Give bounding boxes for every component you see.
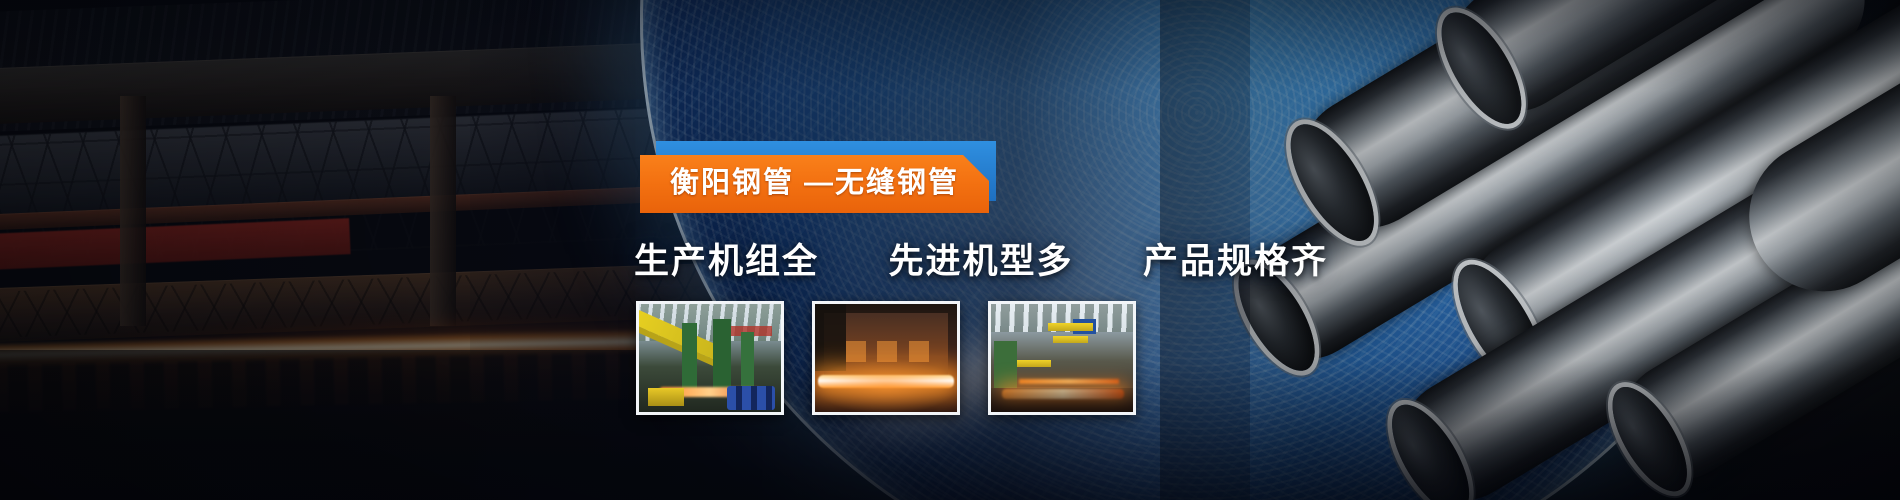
thumb-yellow-platform <box>1014 360 1051 366</box>
thumb-mill-frame <box>682 323 698 394</box>
thumb-hot-pipe-rear <box>1019 379 1118 384</box>
thumb-yellow-platform <box>1053 336 1087 342</box>
thumb-mill-frame <box>741 332 754 392</box>
headline-part-1: 生产机组全 <box>634 242 819 281</box>
thumb-blue-motors <box>727 386 775 410</box>
thumbnail-rolling-mill-line[interactable] <box>636 301 784 415</box>
hero-banner: 衡阳钢管 —无缝钢管 生产机组全 先进机型多 产品规格齐 <box>0 0 1900 500</box>
badge-label: 衡阳钢管 —无缝钢管 <box>670 165 959 201</box>
thumb-yellow-platform <box>1048 323 1093 331</box>
title-badge: 衡阳钢管 —无缝钢管 <box>640 155 989 213</box>
badge-orange-plate: 衡阳钢管 —无缝钢管 <box>640 155 989 213</box>
headline: 生产机组全 先进机型多 产品规格齐 <box>634 233 1328 284</box>
thumbnail-strip <box>636 301 1136 415</box>
banner-content: 衡阳钢管 —无缝钢管 生产机组全 先进机型多 产品规格齐 <box>0 0 1900 500</box>
thumbnail-hot-rolling-billet[interactable] <box>812 301 960 415</box>
headline-part-3: 产品规格齐 <box>1143 242 1328 281</box>
thumb-green-machine <box>994 341 1017 389</box>
thumbnail-mill-hall-hot-pipes[interactable] <box>988 301 1136 415</box>
thumb-foreground-shadow <box>991 388 1133 412</box>
thumb-mill-frame <box>713 319 731 395</box>
thumb-heat-glow <box>815 304 957 412</box>
headline-part-2: 先进机型多 <box>888 242 1073 281</box>
thumb-yellow-cradle <box>648 388 685 405</box>
